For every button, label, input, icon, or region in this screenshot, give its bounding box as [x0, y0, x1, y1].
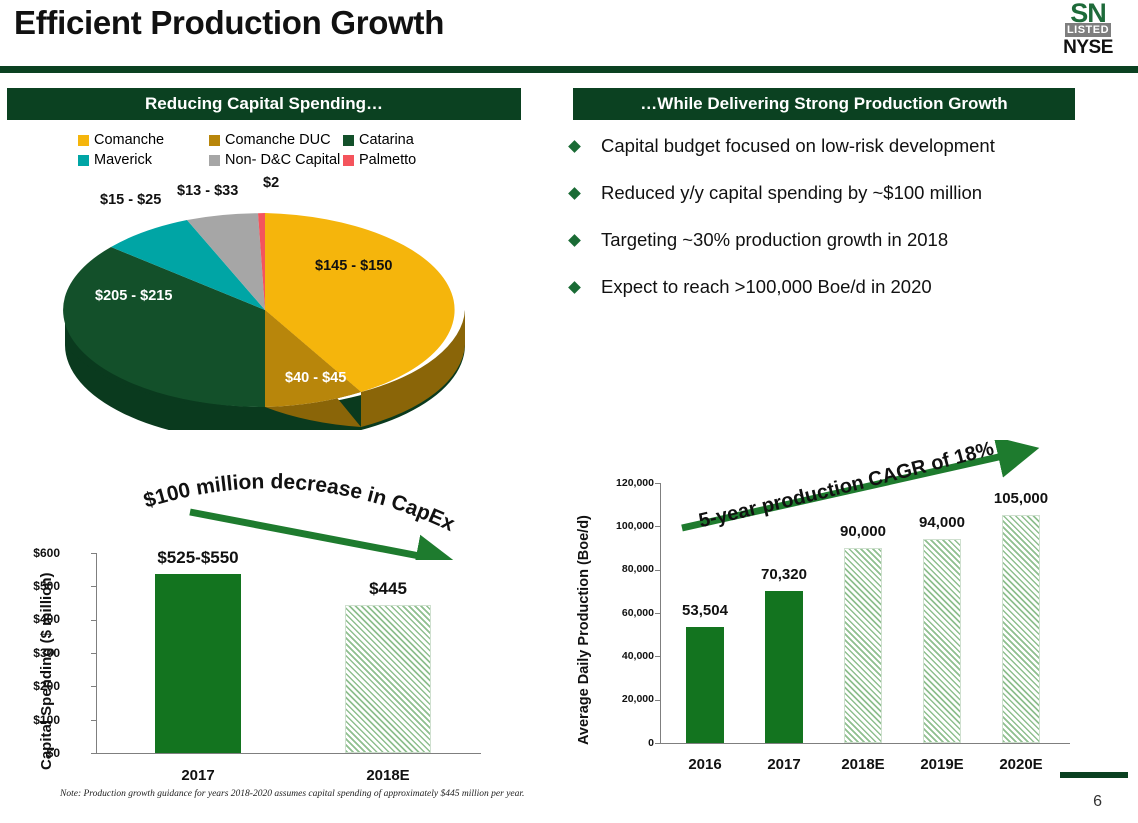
prod-bar-2018e: [844, 548, 882, 743]
header-divider: [0, 66, 1138, 73]
prod-tickmark: [655, 743, 660, 744]
page-number: 6: [1093, 793, 1102, 811]
capex-ytick-500: $500: [16, 579, 60, 593]
legend-row: Maverick Non- D&C Capital Palmetto: [78, 150, 518, 170]
prod-category-2018e: 2018E: [823, 756, 903, 773]
prod-category-2016: 2016: [665, 756, 745, 773]
footnote: Note: Production growth guidance for yea…: [60, 789, 524, 799]
legend-swatch-catarina: [343, 135, 354, 146]
production-growth-bullets: Capital budget focused on low-risk devel…: [566, 136, 1086, 324]
diamond-bullet-icon: [568, 140, 581, 153]
capex-value-2018e: $445: [338, 579, 438, 599]
capex-bar-2017: [155, 574, 241, 753]
list-item: Reduced y/y capital spending by ~$100 mi…: [566, 183, 1086, 230]
pie-label-palmetto: $2: [263, 175, 279, 191]
capex-tickmark: [91, 686, 96, 687]
legend-swatch-non-dc-capital: [209, 155, 220, 166]
prod-ytick-20000: 20,000: [602, 693, 654, 705]
prod-y-axis: [660, 483, 661, 744]
prod-ytick-0: 0: [602, 737, 654, 749]
legend-item-comanche: Comanche: [78, 132, 209, 148]
capex-bar-2018e: [345, 605, 431, 753]
left-section-banner: Reducing Capital Spending…: [7, 88, 521, 120]
exchange-name: NYSE: [1048, 38, 1128, 57]
pie-label-comanche: $145 - $150: [315, 258, 392, 274]
bullet-text: Expect to reach >100,000 Boe/d in 2020: [601, 277, 932, 297]
capex-tickmark: [91, 586, 96, 587]
capex-x-axis: [96, 753, 481, 754]
legend-label-comanche-duc: Comanche DUC: [225, 132, 331, 148]
pie-label-non-dc-capital: $13 - $33: [177, 183, 238, 199]
list-item: Expect to reach >100,000 Boe/d in 2020: [566, 277, 1086, 324]
prod-bar-2019e: [923, 539, 961, 743]
prod-category-2019e: 2019E: [902, 756, 982, 773]
cagr-arrow-text: 5-year production CAGR of 18%: [697, 440, 997, 532]
prod-x-axis: [660, 743, 1070, 744]
legend-swatch-comanche-duc: [209, 135, 220, 146]
prod-bar-2020e: [1002, 515, 1040, 743]
capex-ytick-400: $400: [16, 612, 60, 626]
list-item: Capital budget focused on low-risk devel…: [566, 136, 1086, 183]
cagr-arrow-svg: 5-year production CAGR of 18%: [672, 440, 1042, 540]
capex-tickmark: [91, 653, 96, 654]
pie-label-comanche-duc: $40 - $45: [285, 370, 346, 386]
capex-tickmark: [91, 620, 96, 621]
capex-ytick-300: $300: [16, 646, 60, 660]
legend-label-palmetto: Palmetto: [359, 152, 416, 168]
prod-ytick-60000: 60,000: [602, 607, 654, 619]
prod-ytick-80000: 80,000: [602, 563, 654, 575]
legend-swatch-maverick: [78, 155, 89, 166]
production-cagr-annotation: 5-year production CAGR of 18%: [672, 440, 1042, 540]
capex-tickmark: [91, 720, 96, 721]
capex-y-axis: [96, 553, 97, 754]
prod-value-2017: 70,320: [744, 566, 824, 583]
legend-item-catarina: Catarina: [343, 132, 463, 148]
legend-row: Comanche Comanche DUC Catarina: [78, 130, 518, 150]
capex-ytick-600: $600: [16, 546, 60, 560]
diamond-bullet-icon: [568, 234, 581, 247]
legend-item-non-dc-capital: Non- D&C Capital: [209, 152, 343, 168]
capex-tickmark: [91, 753, 96, 754]
capex-ytick-100: $100: [16, 713, 60, 727]
bullet-text: Capital budget focused on low-risk devel…: [601, 136, 995, 156]
list-item: Targeting ~30% production growth in 2018: [566, 230, 1086, 277]
capex-arrow-svg: $100 million decrease in CapEx: [130, 470, 480, 560]
prod-category-2017: 2017: [744, 756, 824, 773]
bullet-text: Reduced y/y capital spending by ~$100 mi…: [601, 183, 982, 203]
capital-budget-pie-chart: $15 - $25 $13 - $33 $2 $145 - $150 $40 -…: [45, 185, 515, 430]
legend-item-palmetto: Palmetto: [343, 152, 463, 168]
capex-y-axis-title: Capital Spending ($ million): [38, 572, 55, 770]
pie-label-maverick: $15 - $25: [100, 192, 161, 208]
capex-category-2018e: 2018E: [338, 767, 438, 784]
legend-label-comanche: Comanche: [94, 132, 164, 148]
prod-bar-2017: [765, 591, 803, 743]
pie-label-catarina: $205 - $215: [95, 288, 172, 304]
capex-category-2017: 2017: [148, 767, 248, 784]
capex-arrow-text: $100 million decrease in CapEx: [141, 470, 458, 536]
capex-tickmark: [91, 553, 96, 554]
listed-badge: LISTED: [1065, 23, 1111, 37]
nyse-listed-logo: SN LISTED NYSE: [1048, 0, 1128, 62]
bullet-text: Targeting ~30% production growth in 2018: [601, 230, 948, 250]
prod-bar-2016: [686, 627, 724, 743]
pie-slices: [63, 213, 455, 407]
capex-ytick-0: $0: [16, 746, 60, 760]
prod-tickmark: [655, 526, 660, 527]
production-y-axis-title: Average Daily Production (Boe/d): [576, 515, 592, 745]
prod-tickmark: [655, 656, 660, 657]
capex-arrow-line: [190, 512, 430, 558]
page-number-bar: [1060, 772, 1128, 778]
capex-ytick-200: $200: [16, 679, 60, 693]
diamond-bullet-icon: [568, 187, 581, 200]
prod-ytick-120000: 120,000: [602, 477, 654, 489]
prod-tickmark: [655, 700, 660, 701]
prod-ytick-40000: 40,000: [602, 650, 654, 662]
page-title: Efficient Production Growth: [14, 4, 444, 42]
legend-item-comanche-duc: Comanche DUC: [209, 132, 343, 148]
legend-swatch-comanche: [78, 135, 89, 146]
pie-svg: [45, 185, 515, 430]
diamond-bullet-icon: [568, 281, 581, 294]
legend-item-maverick: Maverick: [78, 152, 209, 168]
prod-tickmark: [655, 483, 660, 484]
ticker-symbol: SN: [1048, 0, 1128, 23]
prod-ytick-100000: 100,000: [602, 520, 654, 532]
right-section-banner: …While Delivering Strong Production Grow…: [573, 88, 1075, 120]
legend-label-maverick: Maverick: [94, 152, 152, 168]
prod-tickmark: [655, 613, 660, 614]
legend-label-catarina: Catarina: [359, 132, 414, 148]
legend-swatch-palmetto: [343, 155, 354, 166]
legend-label-non-dc-capital: Non- D&C Capital: [225, 152, 340, 168]
prod-tickmark: [655, 570, 660, 571]
pie-chart-legend: Comanche Comanche DUC Catarina Maverick …: [78, 130, 518, 170]
capex-decrease-annotation: $100 million decrease in CapEx: [130, 470, 480, 560]
prod-value-2016: 53,504: [665, 602, 745, 619]
prod-category-2020e: 2020E: [981, 756, 1061, 773]
